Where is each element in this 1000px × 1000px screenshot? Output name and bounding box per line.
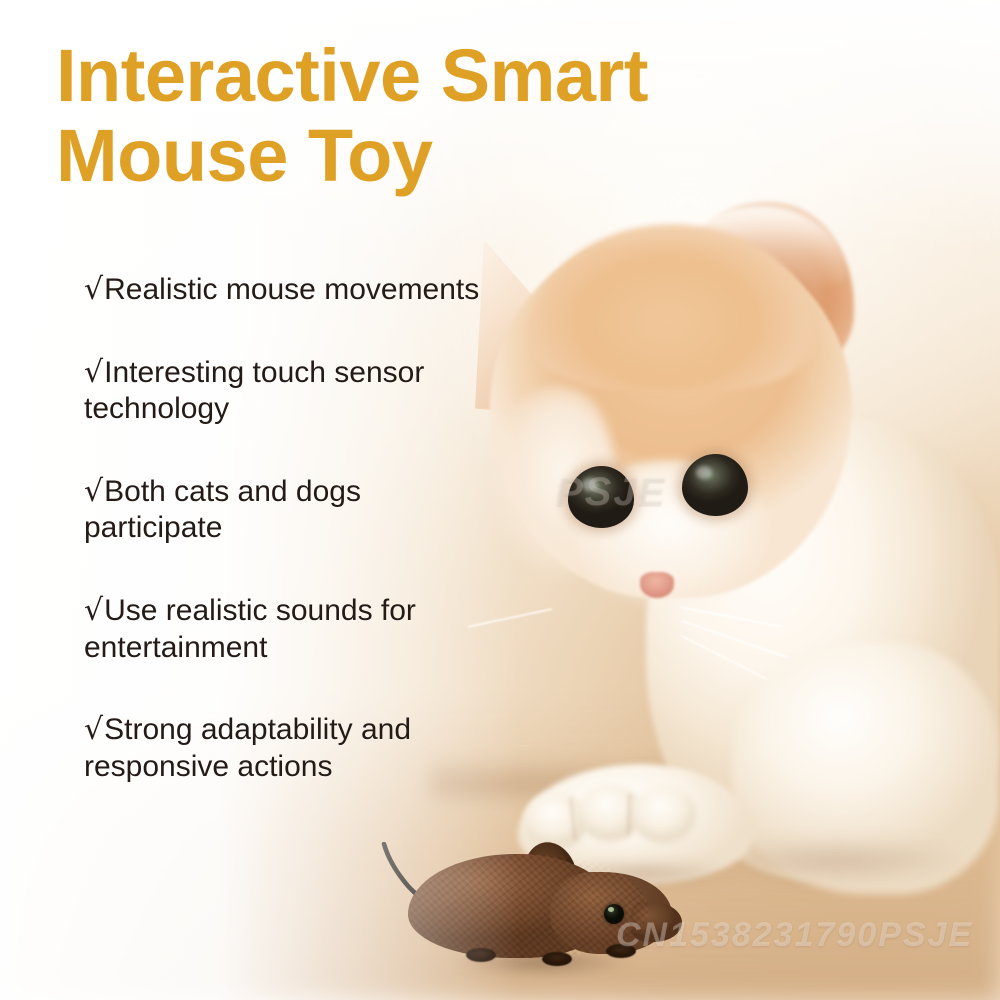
cat-eye-left xyxy=(568,466,634,528)
feature-text: Both cats and dogs participate xyxy=(84,475,361,545)
toy-mouse-eye-highlight xyxy=(608,907,614,912)
list-item: √Both cats and dogs participate xyxy=(84,474,504,547)
cat-eye-right xyxy=(682,454,748,516)
feature-list: √Realistic mouse movements √Interesting … xyxy=(84,272,504,785)
cat-photo xyxy=(432,172,1000,872)
list-item: √Strong adaptability and responsive acti… xyxy=(84,712,504,785)
list-item: √Use realistic sounds for entertainment xyxy=(84,593,504,666)
check-icon: √ xyxy=(84,355,103,390)
toy-mouse xyxy=(392,838,692,988)
list-item: √Interesting touch sensor technology xyxy=(84,355,504,428)
page-title: Interactive Smart Mouse Toy xyxy=(56,36,876,196)
toy-mouse-eye xyxy=(604,904,624,924)
check-icon: √ xyxy=(84,593,103,628)
check-icon: √ xyxy=(84,712,103,747)
product-poster: PSJE CN1538231790PSJE Interactive Smart … xyxy=(0,0,1000,1000)
feature-text: Interesting touch sensor technology xyxy=(84,356,424,426)
list-item: √Realistic mouse movements xyxy=(84,272,504,309)
feature-text: Use realistic sounds for entertainment xyxy=(84,594,416,664)
cat-nose xyxy=(640,572,674,598)
check-icon: √ xyxy=(84,474,103,509)
feature-text: Realistic mouse movements xyxy=(104,273,479,306)
feature-text: Strong adaptability and responsive actio… xyxy=(84,713,411,783)
check-icon: √ xyxy=(84,272,103,307)
